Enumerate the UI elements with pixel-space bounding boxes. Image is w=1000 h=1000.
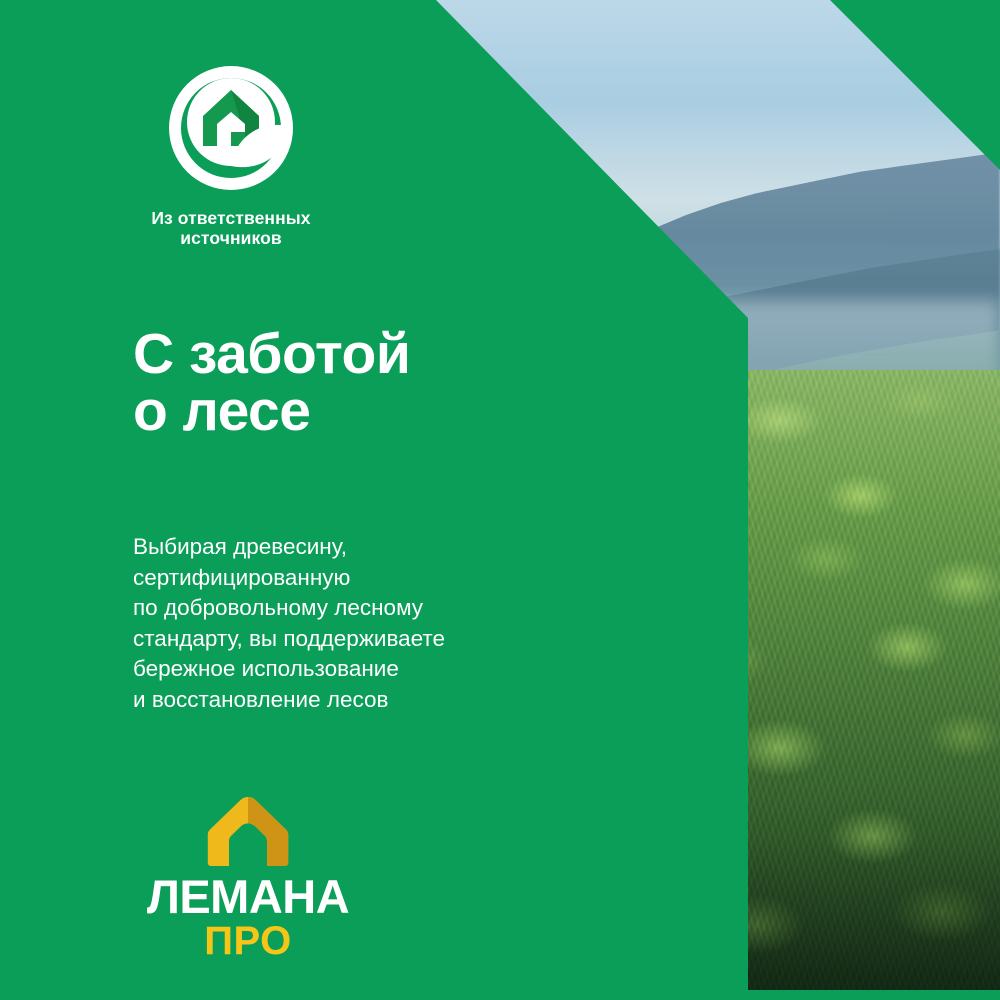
certification-label: Из ответственных источников (133, 208, 329, 248)
brand-logo: ЛЕМАНА ПРО (133, 795, 363, 961)
brand-subname: ПРО (133, 921, 363, 961)
body-text: Выбирая древесину, сертифицированную по … (133, 532, 653, 715)
poster: Из ответственных источников С заботой о … (0, 0, 1000, 1000)
certification-badge: Из ответственных источников (133, 60, 329, 248)
content-column: Из ответственных источников С заботой о … (0, 0, 748, 1000)
brand-name: ЛЕМАНА (133, 873, 363, 920)
house-roof-icon (206, 795, 290, 867)
page-title: С заботой о лесе (133, 326, 693, 440)
house-leaf-circle-icon (163, 60, 299, 196)
